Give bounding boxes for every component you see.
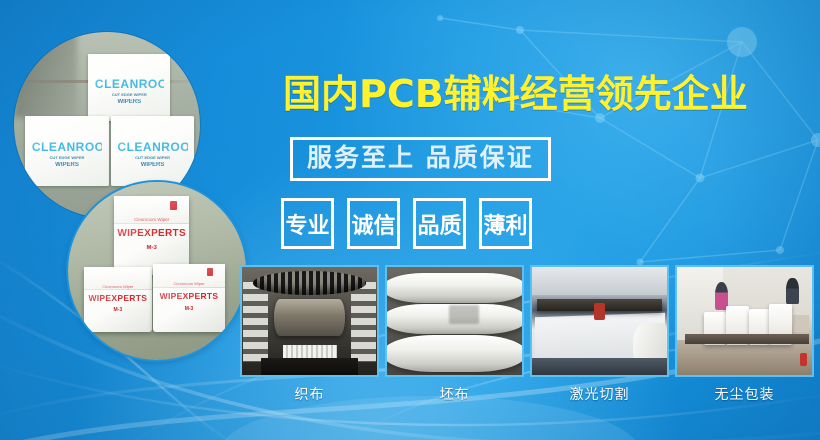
process-item-weaving[interactable]: 织布	[240, 265, 379, 404]
badge-zhuanye[interactable]: 专业	[281, 198, 334, 249]
badge-pinzhi[interactable]: 品质	[413, 198, 466, 249]
process-item-cleanroom-packing[interactable]: 无尘包装	[675, 265, 814, 404]
caption-weaving: 织布	[240, 384, 379, 404]
feature-badges: 专业 诚信 品质 薄利	[281, 198, 532, 249]
photo-knitting-machine	[240, 265, 379, 377]
product-photo-wipexperts-circle: Cleanroom Wiper WIPEXPERTS M-3 Cleanroom…	[68, 182, 246, 360]
promo-banner: CLEANROOM CUT EDGE WIPER WIPERS CLEANROO…	[0, 0, 820, 440]
process-item-laser-cutting[interactable]: 激光切割	[530, 265, 669, 404]
subtitle-box: 服务至上 品质保证	[290, 137, 551, 181]
headline: 国内PCB辅料经营领先企业	[283, 73, 748, 115]
caption-laser-cutting: 激光切割	[530, 384, 669, 404]
process-item-greige[interactable]: 坯布	[385, 265, 524, 404]
badge-baoli[interactable]: 薄利	[479, 198, 532, 249]
process-photo-strip: 织布 坯布	[240, 265, 814, 404]
caption-cleanroom-packing: 无尘包装	[675, 384, 814, 404]
photo-laser-cutter	[530, 265, 669, 377]
badge-chengxin[interactable]: 诚信	[347, 198, 400, 249]
caption-greige: 坯布	[385, 384, 524, 404]
photo-fabric-rolls	[385, 265, 524, 377]
photo-cleanroom-packing	[675, 265, 814, 377]
